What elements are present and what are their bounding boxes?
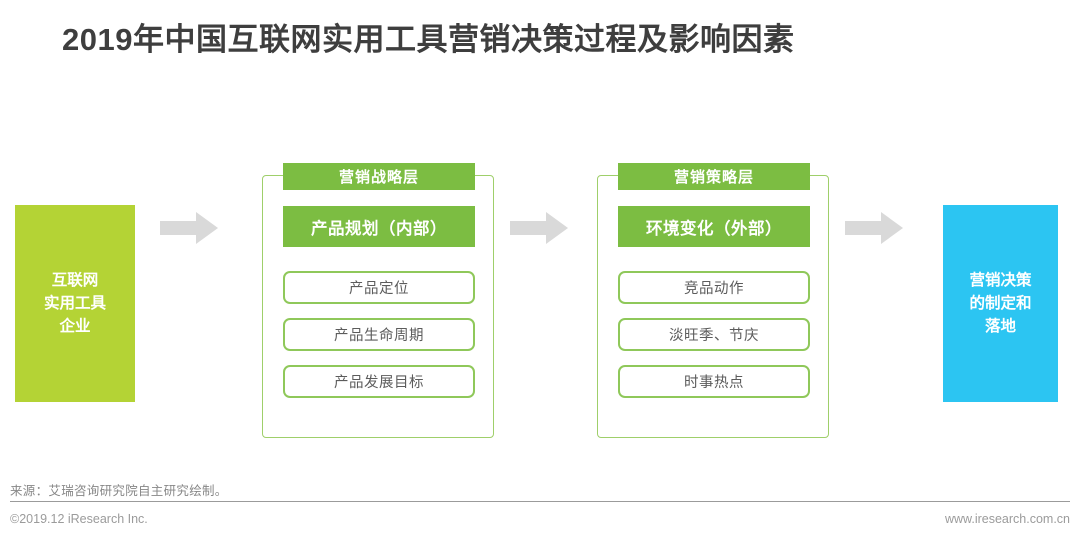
layer-header-tactics: 营销策略层	[618, 163, 810, 190]
layer-panel-tactics: 营销策略层 环境变化（外部） 竞品动作 淡旺季、节庆 时事热点	[597, 175, 829, 438]
layer-item-strategy-1[interactable]: 产品生命周期	[283, 318, 475, 351]
entry-box-text: 互联网 实用工具 企业	[44, 269, 106, 339]
arrow-tactics-to-outcome-icon	[845, 212, 903, 244]
outcome-box-line-1: 营销决策	[969, 269, 1031, 292]
layer-panel-strategy: 营销战略层 产品规划（内部） 产品定位 产品生命周期 产品发展目标	[262, 175, 494, 438]
outcome-box-line-3: 落地	[969, 315, 1031, 338]
entry-box-internet-tool-enterprise: 互联网 实用工具 企业	[15, 205, 135, 402]
layer-subheader-tactics: 环境变化（外部）	[618, 206, 810, 247]
layer-item-tactics-0[interactable]: 竞品动作	[618, 271, 810, 304]
layer-item-tactics-2[interactable]: 时事热点	[618, 365, 810, 398]
source-note: 来源：艾瑞咨询研究院自主研究绘制。	[10, 480, 228, 499]
footer-divider	[10, 501, 1070, 502]
entry-box-line-3: 企业	[44, 315, 106, 338]
layer-subheader-strategy: 产品规划（内部）	[283, 206, 475, 247]
outcome-box-marketing-decision: 营销决策 的制定和 落地	[943, 205, 1058, 402]
layer-header-strategy: 营销战略层	[283, 163, 475, 190]
layer-item-strategy-2[interactable]: 产品发展目标	[283, 365, 475, 398]
copyright-text: ©2019.12 iResearch Inc.	[10, 512, 148, 526]
layer-item-tactics-1[interactable]: 淡旺季、节庆	[618, 318, 810, 351]
entry-box-line-1: 互联网	[44, 269, 106, 292]
arrow-strategy-to-tactics-icon	[510, 212, 568, 244]
outcome-box-line-2: 的制定和	[969, 292, 1031, 315]
diagram-page: 2019年中国互联网实用工具营销决策过程及影响因素 互联网 实用工具 企业 营销…	[0, 0, 1080, 542]
entry-box-line-2: 实用工具	[44, 292, 106, 315]
layer-item-strategy-0[interactable]: 产品定位	[283, 271, 475, 304]
outcome-box-text: 营销决策 的制定和 落地	[969, 269, 1031, 339]
website-url: www.iresearch.com.cn	[945, 512, 1070, 526]
page-title: 2019年中国互联网实用工具营销决策过程及影响因素	[62, 14, 1022, 59]
arrow-entry-to-strategy-icon	[160, 212, 218, 244]
